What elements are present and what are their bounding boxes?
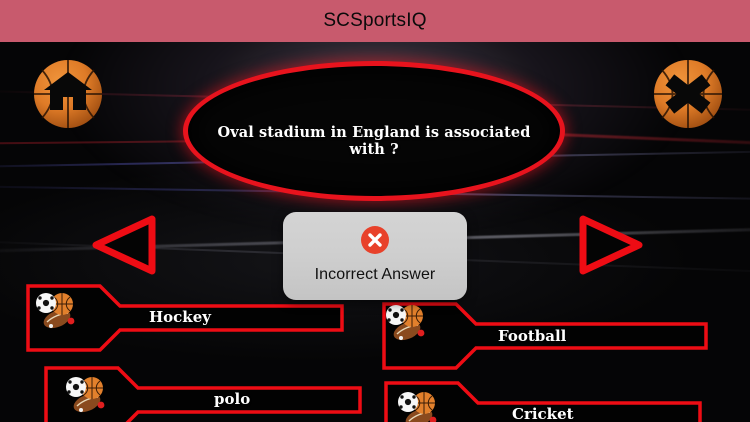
basketball-home-icon — [26, 52, 110, 136]
basketball-close-icon — [646, 52, 730, 136]
answer-option-football[interactable]: Football — [380, 300, 710, 372]
quiz-app-screen: SCSportsIQ — [0, 0, 750, 422]
sports-balls-icon — [382, 302, 428, 342]
triangle-right-icon — [577, 214, 643, 276]
previous-question-button[interactable] — [92, 214, 158, 276]
app-title: SCSportsIQ — [323, 10, 426, 32]
incorrect-answer-dialog: Incorrect Answer — [283, 212, 467, 300]
triangle-left-icon — [92, 214, 158, 276]
question-text: Oval stadium in England is associated wi… — [188, 124, 560, 158]
answer-label: polo — [214, 390, 250, 408]
game-stage: Oval stadium in England is associated wi… — [0, 42, 750, 422]
answer-label: Hockey — [149, 308, 211, 326]
error-x-circle-icon — [360, 225, 390, 255]
sports-balls-icon — [62, 374, 108, 414]
answer-option-cricket[interactable]: Cricket — [382, 379, 704, 422]
next-question-button[interactable] — [577, 214, 643, 276]
answer-label: Football — [498, 327, 566, 345]
sports-balls-icon — [32, 290, 78, 330]
home-button[interactable] — [26, 52, 110, 136]
question-panel: Oval stadium in England is associated wi… — [183, 61, 565, 201]
sports-balls-icon — [394, 389, 440, 422]
app-header: SCSportsIQ — [0, 0, 750, 42]
close-button[interactable] — [646, 52, 730, 136]
dialog-message: Incorrect Answer — [315, 266, 436, 284]
answer-label: Cricket — [512, 405, 574, 422]
answer-option-polo[interactable]: polo — [42, 364, 364, 422]
